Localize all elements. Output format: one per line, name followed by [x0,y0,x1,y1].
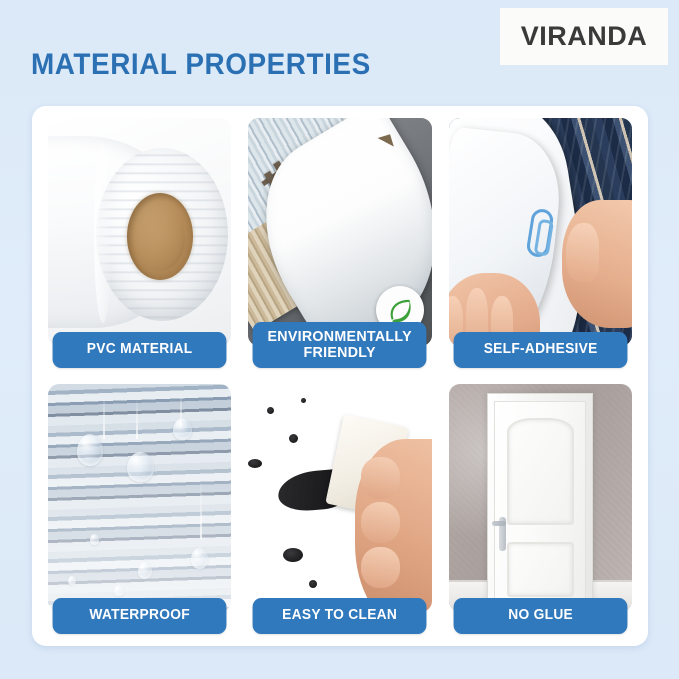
feature-label-waterproof: WATERPROOF [53,598,227,634]
feature-image-self-adhesive [449,118,632,346]
leaf-icon [385,295,415,325]
feature-image-easy-to-clean [248,384,431,612]
feature-cell-environmentally-friendly[interactable]: ENVIRONMENTALLY FRIENDLY [248,118,431,368]
feature-cell-no-glue[interactable]: NO GLUE [449,384,632,634]
feature-image-waterproof [48,384,231,612]
feature-image-no-glue-door [449,384,632,612]
feature-label-self-adhesive: SELF-ADHESIVE [453,332,627,368]
features-grid: PVC MATERIAL [48,118,632,634]
feature-label-environmentally-friendly: ENVIRONMENTALLY FRIENDLY [253,322,427,368]
page-title: MATERIAL PROPERTIES [31,48,371,82]
feature-label-pvc-material: PVC MATERIAL [53,332,227,368]
infographic-root: VIRANDA MATERIAL PROPERTIES PVC MATERI [0,0,679,679]
feature-cell-self-adhesive[interactable]: SELF-ADHESIVE [449,118,632,368]
feature-cell-pvc-material[interactable]: PVC MATERIAL [48,118,231,368]
feature-label-easy-to-clean: EASY TO CLEAN [253,598,427,634]
features-card: PVC MATERIAL [32,106,648,646]
feature-cell-easy-to-clean[interactable]: EASY TO CLEAN [248,384,431,634]
brand-logo-text: VIRANDA [521,21,648,52]
feature-label-no-glue: NO GLUE [453,598,627,634]
feature-image-eco-roll [248,118,431,346]
brand-logo-box: VIRANDA [500,8,668,65]
feature-image-pvc-roll [48,118,231,346]
feature-cell-waterproof[interactable]: WATERPROOF [48,384,231,634]
